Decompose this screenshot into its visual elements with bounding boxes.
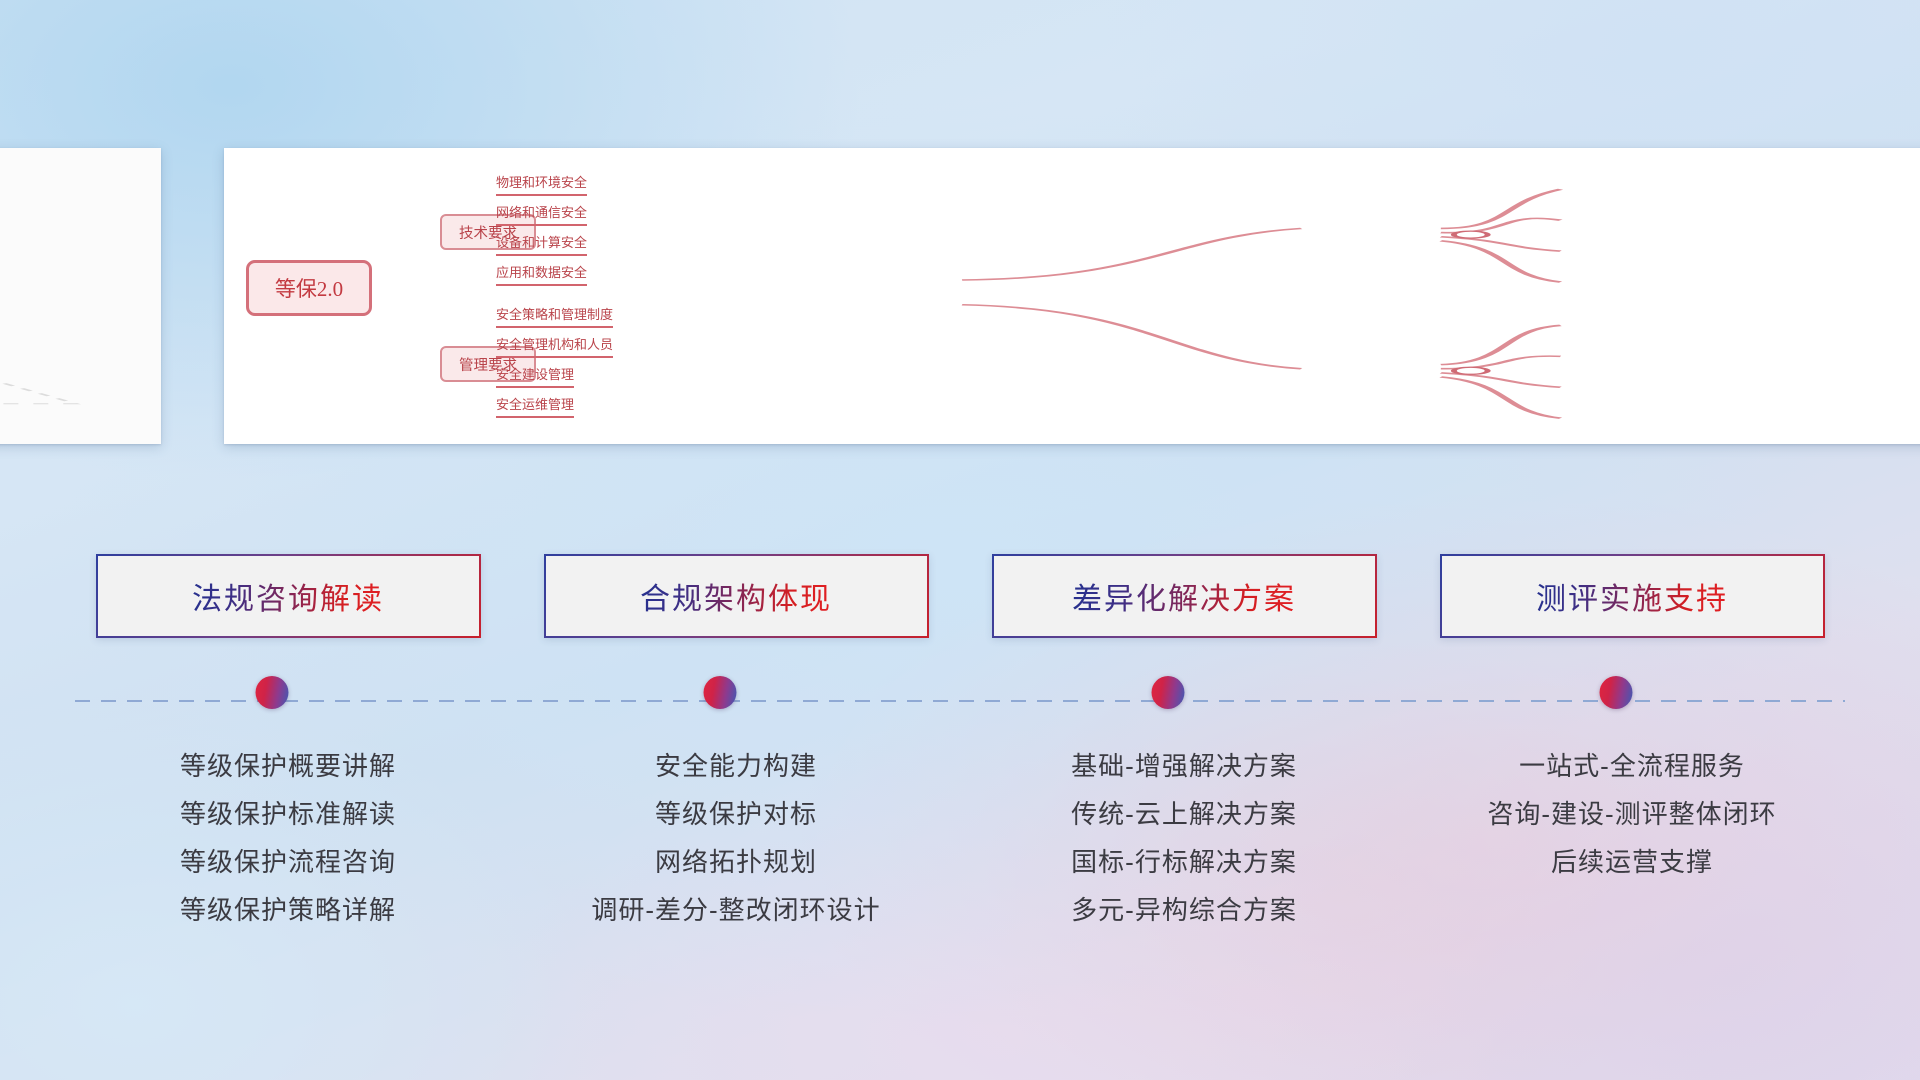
- section-items-assessment-support: 一站式-全流程服务 咨询-建设-测评整体闭环 后续运营支撑: [1440, 742, 1825, 934]
- timeline-dot-4[interactable]: [1600, 676, 1633, 709]
- mindmap-leaf: 应用和数据安全: [496, 262, 587, 286]
- section-title-label: 法规咨询解读: [192, 574, 384, 618]
- section-title-box-compliance-architecture[interactable]: 合规架构体现: [544, 554, 929, 638]
- section-title-row: 法规咨询解读 合规架构体现 差异化解决方案 测评实施支持: [0, 554, 1920, 642]
- mindmap-leaf: 设备和计算安全: [496, 232, 587, 256]
- timeline-dot-2[interactable]: [704, 676, 737, 709]
- list-item: 传统-云上解决方案: [992, 790, 1377, 838]
- mindmap-root-node: 等保2.0: [246, 260, 372, 316]
- mindmap-leaf: 安全运维管理: [496, 394, 574, 418]
- section-title-label: 测评实施支持: [1536, 574, 1728, 618]
- section-items-compliance-architecture: 安全能力构建 等级保护对标 网络拓扑规划 调研-差分-整改闭环设计: [544, 742, 929, 934]
- list-item: 多元-异构综合方案: [992, 886, 1377, 934]
- mindmap-leaf: 安全建设管理: [496, 364, 574, 388]
- list-item: 等级保护对标: [544, 790, 929, 838]
- section-title-box-regulation-consulting[interactable]: 法规咨询解读: [96, 554, 481, 638]
- list-item: 安全能力构建: [544, 742, 929, 790]
- architecture-connector-lines: [0, 148, 161, 444]
- list-item: 等级保护概要讲解: [96, 742, 481, 790]
- mindmap-leaf: 安全管理机构和人员: [496, 334, 613, 358]
- card-cloud-architecture: 基础合规架构 增强合规架构: [0, 148, 161, 444]
- list-item: 国标-行标解决方案: [992, 838, 1377, 886]
- list-item: 咨询-建设-测评整体闭环: [1440, 790, 1825, 838]
- timeline-dot-1[interactable]: [256, 676, 289, 709]
- section-items-regulation-consulting: 等级保护概要讲解 等级保护标准解读 等级保护流程咨询 等级保护策略详解: [96, 742, 481, 934]
- mindmap-connector-lines: [224, 148, 1920, 444]
- mindmap-leaf: 物理和环境安全: [496, 172, 587, 196]
- section-title-box-assessment-support[interactable]: 测评实施支持: [1440, 554, 1825, 638]
- list-item: 等级保护策略详解: [96, 886, 481, 934]
- illustration-card-row: 中华人民共和国网络安全法 第二十一条 国家实行网络安全等级保护制度。网络运营者应…: [0, 148, 1920, 444]
- section-items-differentiated-solution: 基础-增强解决方案 传统-云上解决方案 国标-行标解决方案 多元-异构综合方案: [992, 742, 1377, 934]
- list-item: 后续运营支撑: [1440, 838, 1825, 886]
- slide-canvas: 中华人民共和国网络安全法 第二十一条 国家实行网络安全等级保护制度。网络运营者应…: [0, 0, 1920, 1080]
- timeline-dot-3[interactable]: [1152, 676, 1185, 709]
- section-title-label: 合规架构体现: [640, 574, 832, 618]
- mindmap-leaf: 网络和通信安全: [496, 202, 587, 226]
- list-item: 网络拓扑规划: [544, 838, 929, 886]
- mindmap-leaf: 安全策略和管理制度: [496, 304, 613, 328]
- timeline-dot-row: [0, 676, 1920, 726]
- list-item: 基础-增强解决方案: [992, 742, 1377, 790]
- card-dengbao-mindmap: 等保2.0 技术要求 物理和环境安全 网络和通信安全 设备和计算安全 应用和数据…: [224, 148, 1920, 444]
- list-item: 等级保护标准解读: [96, 790, 481, 838]
- section-items-row: 等级保护概要讲解 等级保护标准解读 等级保护流程咨询 等级保护策略详解 安全能力…: [0, 742, 1920, 934]
- list-item: 调研-差分-整改闭环设计: [544, 886, 929, 934]
- list-item: 等级保护流程咨询: [96, 838, 481, 886]
- section-title-box-differentiated-solution[interactable]: 差异化解决方案: [992, 554, 1377, 638]
- section-title-label: 差异化解决方案: [1072, 574, 1296, 618]
- list-item: 一站式-全流程服务: [1440, 742, 1825, 790]
